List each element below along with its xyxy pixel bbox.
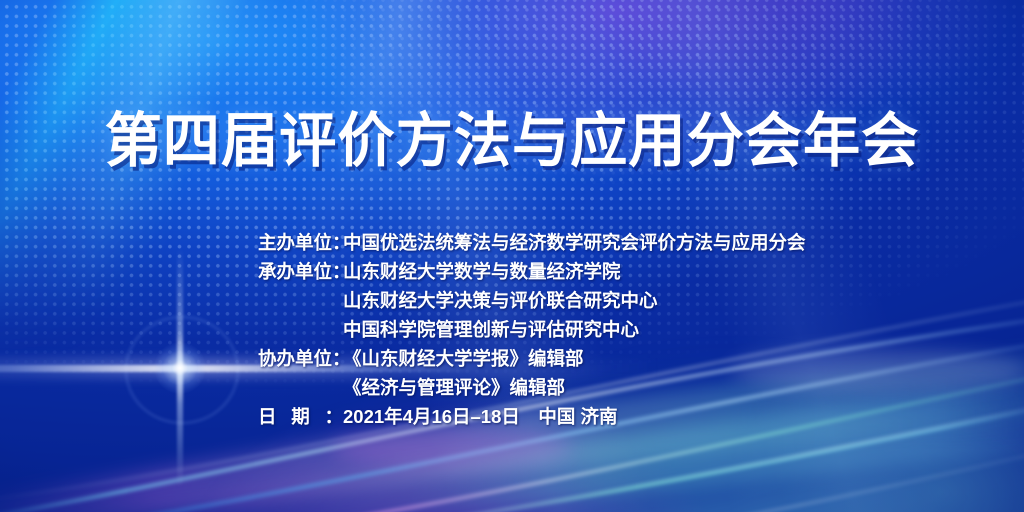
info-value-host: 中国优选法统筹法与经济数学研究会评价方法与应用分会 — [343, 228, 806, 257]
organizer-info-block: 主办单位： 中国优选法统筹法与经济数学研究会评价方法与应用分会 承办单位： 山东… — [258, 228, 806, 431]
info-label-date: 日 期 ： — [258, 402, 343, 431]
banner-title: 第四届评价方法与应用分会年会 — [15, 112, 1008, 171]
info-row-organizer-2: 山东财经大学决策与评价联合研究中心 — [258, 286, 806, 315]
info-value-organizer: 山东财经大学数学与数量经济学院 — [343, 257, 806, 286]
info-row-coorganizer-2: 《经济与管理评论》编辑部 — [258, 373, 806, 402]
info-value-date: 2021年4月16日–18日 中国 济南 — [343, 402, 806, 431]
info-label-organizer: 承办单位： — [258, 257, 343, 286]
conference-banner: 第四届评价方法与应用分会年会 主办单位： 中国优选法统筹法与经济数学研究会评价方… — [0, 0, 1024, 512]
info-row-date: 日 期 ： 2021年4月16日–18日 中国 济南 — [258, 402, 806, 431]
info-label-host: 主办单位： — [258, 228, 343, 257]
info-row-organizer: 承办单位： 山东财经大学数学与数量经济学院 — [258, 257, 806, 286]
date-label-char-1: 日 — [258, 402, 277, 431]
info-value-coorganizer: 《山东财经大学学报》编辑部 — [343, 344, 806, 373]
info-row-organizer-3: 中国科学院管理创新与评估研究中心 — [258, 315, 806, 344]
info-value-coorganizer-2: 《经济与管理评论》编辑部 — [343, 373, 806, 402]
info-row-host: 主办单位： 中国优选法统筹法与经济数学研究会评价方法与应用分会 — [258, 228, 806, 257]
banner-content: 第四届评价方法与应用分会年会 主办单位： 中国优选法统筹法与经济数学研究会评价方… — [0, 0, 1024, 512]
date-label-colon: ： — [324, 402, 343, 431]
info-row-coorganizer: 协办单位： 《山东财经大学学报》编辑部 — [258, 344, 806, 373]
info-value-organizer-3: 中国科学院管理创新与评估研究中心 — [343, 315, 806, 344]
info-label-coorganizer: 协办单位： — [258, 344, 343, 373]
info-value-organizer-2: 山东财经大学决策与评价联合研究中心 — [343, 286, 806, 315]
date-label-char-2: 期 — [291, 402, 310, 431]
